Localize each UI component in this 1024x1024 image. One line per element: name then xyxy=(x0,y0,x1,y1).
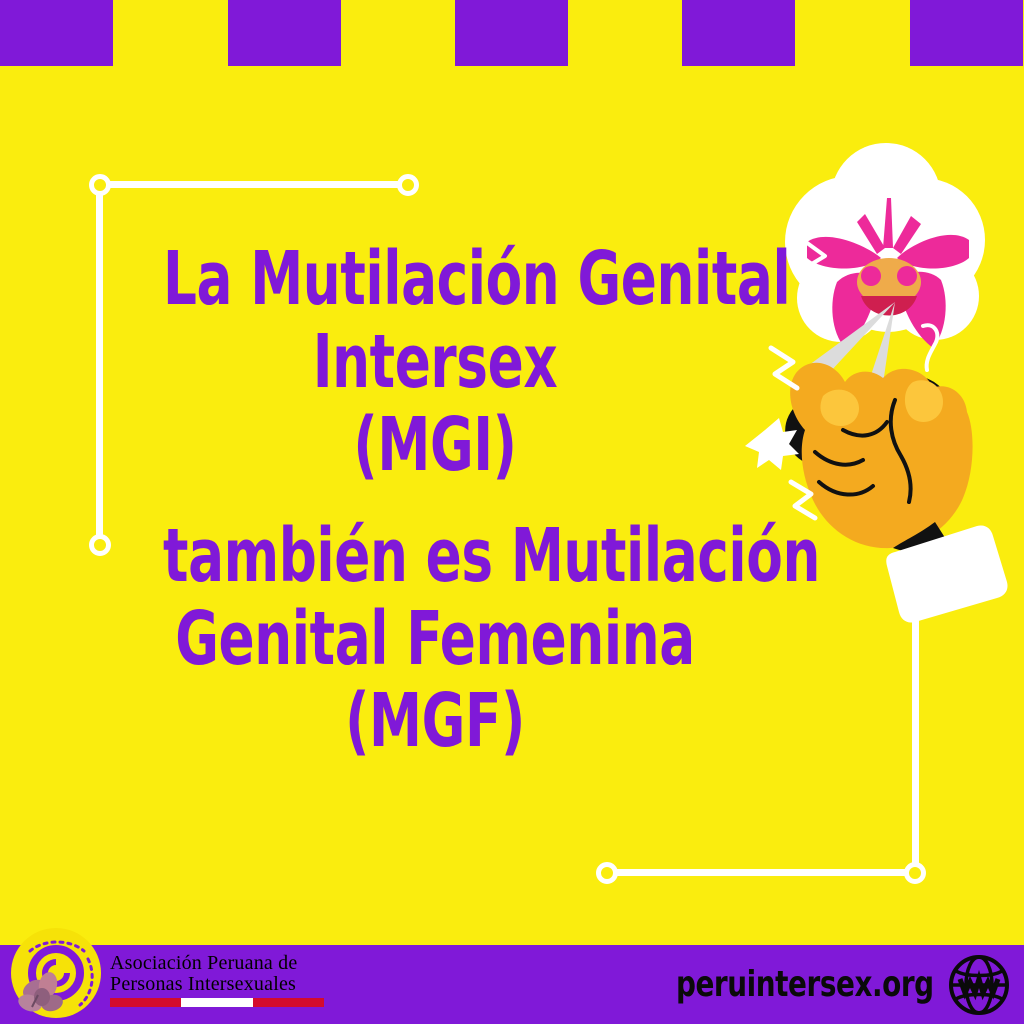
headline-line: (MGI) xyxy=(163,404,707,487)
top-block-pattern xyxy=(0,0,1024,66)
top-pattern-block-5 xyxy=(910,0,1023,66)
headline-line: también es Mutilación xyxy=(163,515,707,598)
flag-stripe-red-right xyxy=(253,998,324,1007)
footer-bar: Asociación Peruana de Personas Intersexu… xyxy=(0,945,1024,1024)
website-url-text[interactable]: peruintersex.org xyxy=(676,964,934,1005)
bracket-dot-bottom-right-1 xyxy=(596,862,618,884)
headline-line: Genital Femenina xyxy=(163,598,707,681)
bracket-dot-top-left-2 xyxy=(397,174,419,196)
top-pattern-block-4 xyxy=(682,0,795,66)
flag-stripe-red-left xyxy=(110,998,181,1007)
apppi-orchid-spiral-logo-icon xyxy=(8,925,104,1021)
headline-block-primary: La Mutilación Genital Intersex (MGI) xyxy=(163,238,707,487)
flag-stripe-white xyxy=(181,998,252,1007)
organization-logo[interactable]: Asociación Peruana de Personas Intersexu… xyxy=(8,923,324,1023)
organization-name-line-1: Asociación Peruana de xyxy=(110,953,324,974)
bracket-dot-bottom-right-2 xyxy=(904,862,926,884)
peru-flag-bar xyxy=(110,998,324,1007)
top-pattern-block-1 xyxy=(0,0,113,66)
headline-line: (MGF) xyxy=(163,680,707,763)
bracket-dot-top-left-1 xyxy=(89,174,111,196)
bracket-top-left-horizontal xyxy=(100,181,408,188)
top-pattern-block-2 xyxy=(228,0,341,66)
top-pattern-block-3 xyxy=(455,0,568,66)
orchid-flower-icon xyxy=(785,143,985,348)
bracket-bottom-right-horizontal xyxy=(607,869,915,876)
bracket-bottom-right-vertical xyxy=(912,586,919,876)
organization-name-block: Asociación Peruana de Personas Intersexu… xyxy=(110,939,324,1007)
headline-line: La Mutilación Genital xyxy=(163,238,707,321)
website-group[interactable]: peruintersex.org xyxy=(634,945,1010,1024)
headline-block-secondary: también es Mutilación Genital Femenina (… xyxy=(163,515,707,764)
organization-name-line-2: Personas Intersexuales xyxy=(110,974,324,995)
poster-canvas: La Mutilación Genital Intersex (MGI) tam… xyxy=(0,0,1024,1024)
headline-line: Intersex xyxy=(163,321,707,404)
headline-group: La Mutilación Genital Intersex (MGI) tam… xyxy=(95,238,775,763)
globe-www-icon[interactable] xyxy=(948,954,1010,1016)
